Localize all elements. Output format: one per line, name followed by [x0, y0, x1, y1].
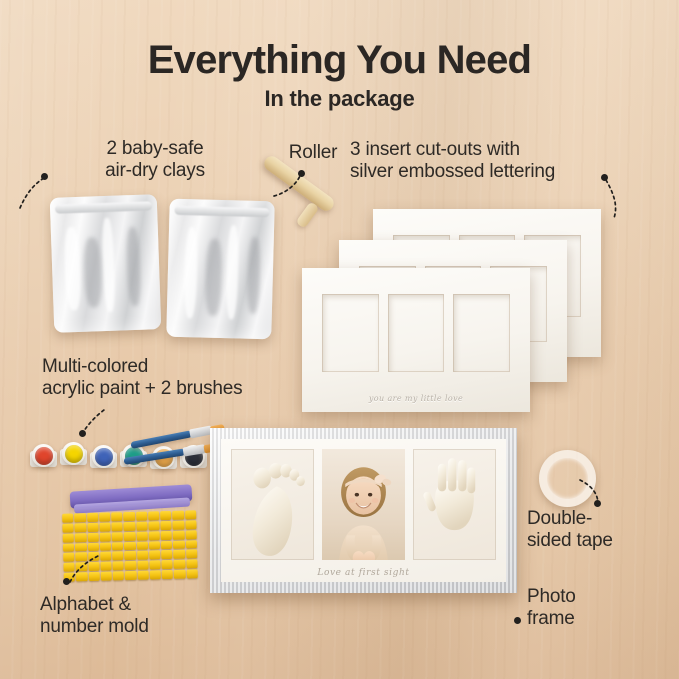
leader-dot-roller: [298, 170, 305, 177]
infographic-canvas: Everything You Need In the package Bundl…: [0, 0, 679, 679]
insert-window: [453, 294, 510, 372]
leader-dot-clays: [41, 173, 48, 180]
photo-frame: Love at first sight: [210, 428, 517, 593]
frame-caption: Love at first sight: [221, 568, 506, 578]
double-sided-tape-ring: [539, 450, 596, 507]
label-mold: Alphabet & number mold: [40, 594, 250, 639]
footprint-cast-cell: [231, 449, 314, 560]
paint-pot-strip: [30, 440, 210, 480]
label-roller: Roller: [268, 142, 358, 164]
paint-pot: [60, 440, 87, 474]
baby-photo-cell: [322, 449, 405, 560]
leader-inserts: [604, 178, 646, 222]
leader-dot-frame: [514, 617, 521, 624]
frame-mat: Love at first sight: [221, 439, 506, 582]
insert-window: [388, 294, 445, 372]
handprint-cast-cell: [413, 449, 496, 560]
page-title: Everything You Need: [0, 38, 679, 83]
page-subtitle: In the package: [0, 86, 679, 112]
baby-photo: [322, 449, 405, 560]
leader-dot-inserts: [601, 174, 608, 181]
leader-dot-mold: [63, 578, 70, 585]
label-paint: Multi-colored acrylic paint + 2 brushes: [42, 356, 304, 401]
label-tape: Double- sided tape: [527, 508, 677, 553]
footprint-icon: [231, 449, 314, 560]
insert-window: [322, 294, 379, 372]
clay-packet-left: [50, 194, 162, 333]
handprint-icon: [413, 449, 496, 550]
label-inserts: 3 insert cut-outs with silver embossed l…: [350, 139, 600, 184]
paint-pot: [90, 443, 117, 477]
leader-dot-paint: [79, 430, 86, 437]
insert-embossed-text: you are my little love: [302, 394, 530, 403]
label-clays: 2 baby-safe air-dry clays: [70, 138, 240, 183]
alphabet-number-stamps: [62, 510, 198, 581]
insert-cutout-1: you are my little love: [302, 268, 530, 412]
label-frame: Photo frame: [527, 586, 677, 631]
leader-dot-tape: [594, 500, 601, 507]
paint-pot: [30, 442, 57, 476]
